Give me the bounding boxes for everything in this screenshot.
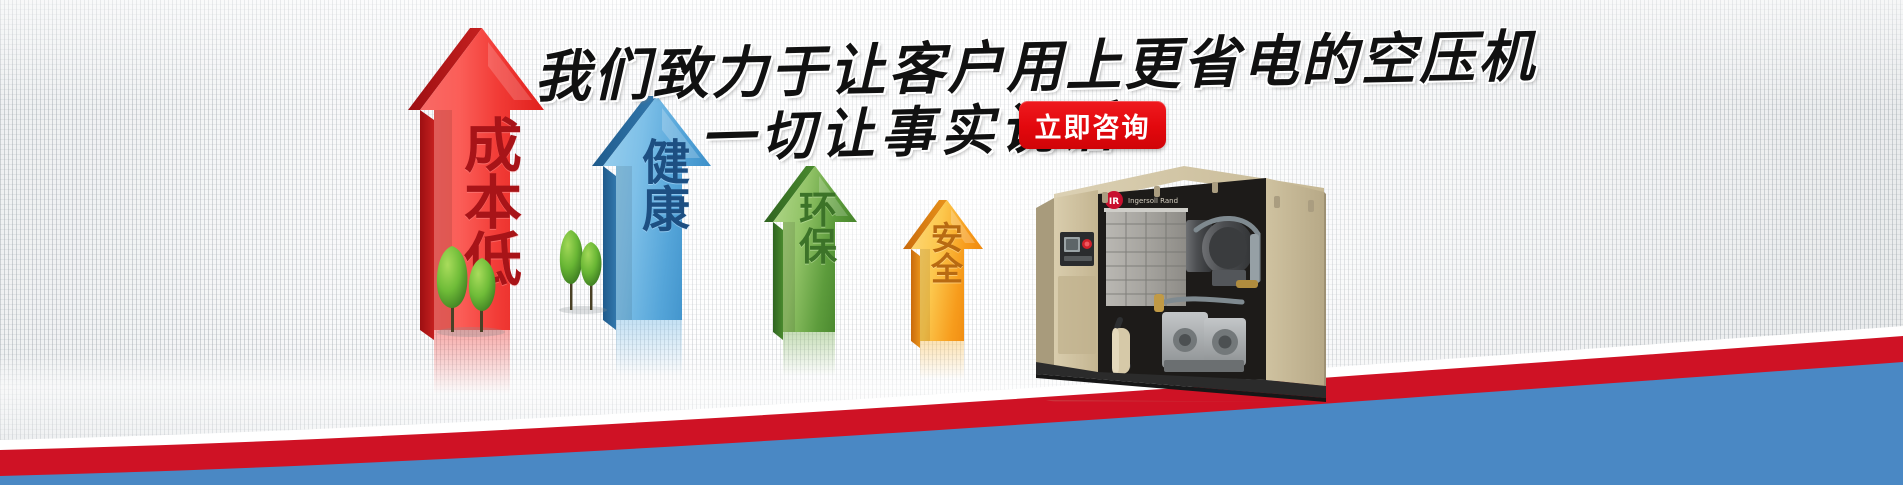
arrow-eco: 环 保 (755, 160, 865, 355)
tree-decoration (556, 222, 610, 314)
svg-text:IR: IR (1109, 197, 1119, 207)
air-compressor-image: IR Ingersoll Rand (1036, 152, 1326, 402)
tree-icon (432, 232, 510, 337)
arrow-eco-shape (755, 160, 865, 355)
promo-banner: 成 本 低 (0, 0, 1903, 485)
svg-text:Ingersoll Rand: Ingersoll Rand (1128, 197, 1178, 205)
consult-now-button[interactable]: 立即咨询 (1019, 101, 1166, 149)
arrow-safety-shape (895, 195, 991, 360)
tree-decoration (432, 232, 510, 337)
arrow-safety: 安 全 (895, 195, 991, 360)
air-compressor-illustration: IR Ingersoll Rand (1036, 152, 1326, 402)
tree-icon (556, 222, 610, 314)
